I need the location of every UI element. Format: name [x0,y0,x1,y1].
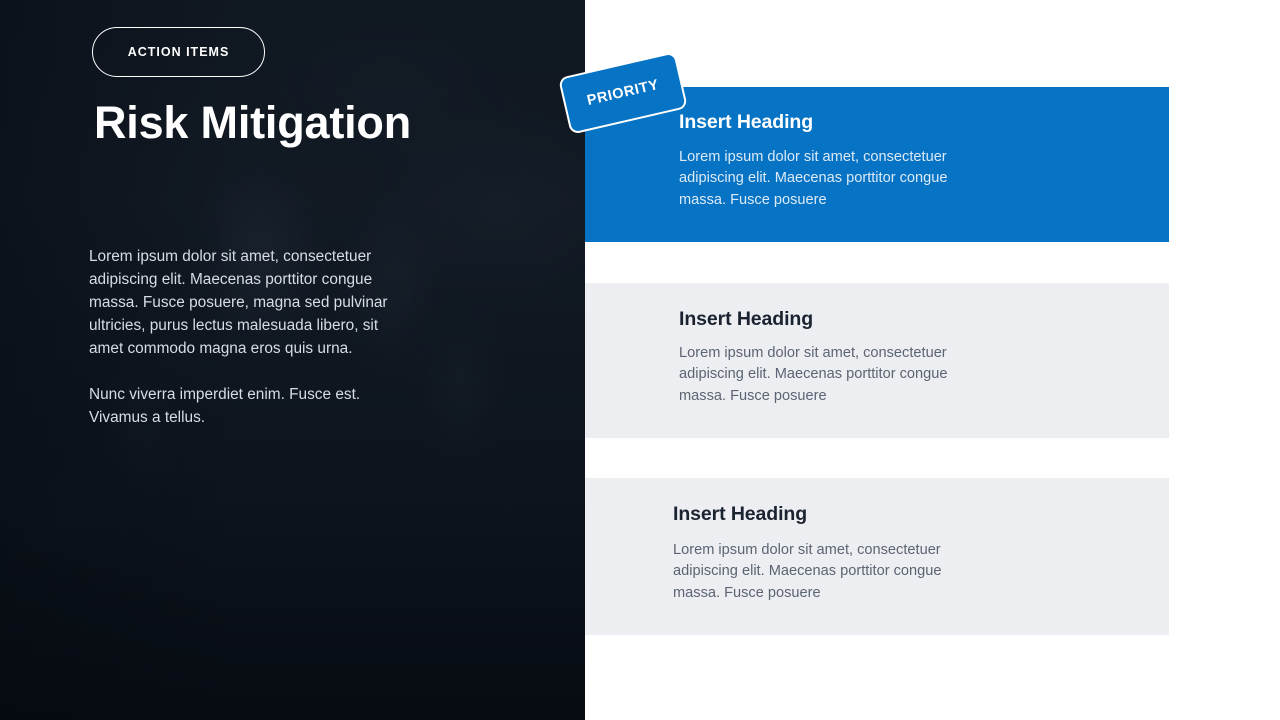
slide-root: ACTION ITEMS Risk Mitigation Lorem ipsum… [0,0,1280,720]
priority-ribbon-label: PRIORITY [585,77,660,109]
content-card-2[interactable]: Insert Heading Lorem ipsum dolor sit ame… [585,283,1169,438]
action-items-badge-label: ACTION ITEMS [128,45,230,59]
card-3-heading: Insert Heading [673,503,1169,526]
card-1-heading: Insert Heading [679,111,1169,134]
left-body-text: Lorem ipsum dolor sit amet, consectetuer… [89,245,394,429]
left-paragraph-1: Lorem ipsum dolor sit amet, consectetuer… [89,245,394,360]
action-items-badge: ACTION ITEMS [92,27,265,77]
card-1-body: Lorem ipsum dolor sit amet, consectetuer… [679,147,979,211]
content-card-3[interactable]: Insert Heading Lorem ipsum dolor sit ame… [585,478,1169,635]
left-paragraph-2: Nunc viverra imperdiet enim. Fusce est. … [89,383,394,429]
left-panel: ACTION ITEMS Risk Mitigation Lorem ipsum… [0,0,585,720]
card-2-heading: Insert Heading [679,308,1169,331]
card-3-body: Lorem ipsum dolor sit amet, consectetuer… [673,540,973,604]
card-2-body: Lorem ipsum dolor sit amet, consectetuer… [679,343,979,407]
page-title: Risk Mitigation [94,98,411,148]
